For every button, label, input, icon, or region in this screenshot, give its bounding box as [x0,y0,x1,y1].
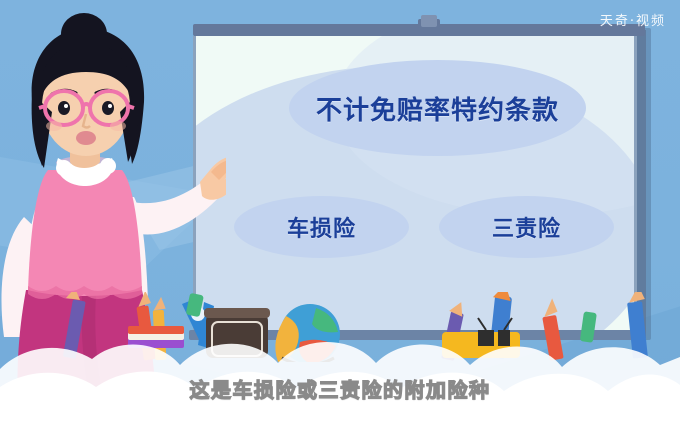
presenter-eye-glint [108,104,112,108]
video-frame: 不计免赔率特约条款 车损险 三责险 [0,0,680,421]
presenter-eye [58,101,70,115]
whiteboard-clip-highlight [421,15,437,27]
watermark-label: 天奇·视频 [600,10,666,29]
bubble-option-left: 车损险 [234,196,409,258]
presenter-vest [28,170,142,296]
presenter-hand-icon [200,157,226,200]
presenter-eye-glint [64,104,68,108]
bubble-option-right: 三责险 [439,196,614,258]
bubble-option-left-label: 车损险 [287,211,356,243]
presenter-cheek [110,121,126,131]
bubble-option-right-label: 三责险 [492,211,561,243]
bubble-title-label: 不计免赔率特约条款 [316,90,559,127]
presenter-mouth [76,131,96,145]
presenter-cheek [46,121,62,131]
bubble-title: 不计免赔率特约条款 [289,60,586,156]
presenter-eye [102,101,114,115]
snow-foreground [0,311,680,421]
subtitle-text: 这是车损险或三责险的附加险种 [0,374,680,403]
